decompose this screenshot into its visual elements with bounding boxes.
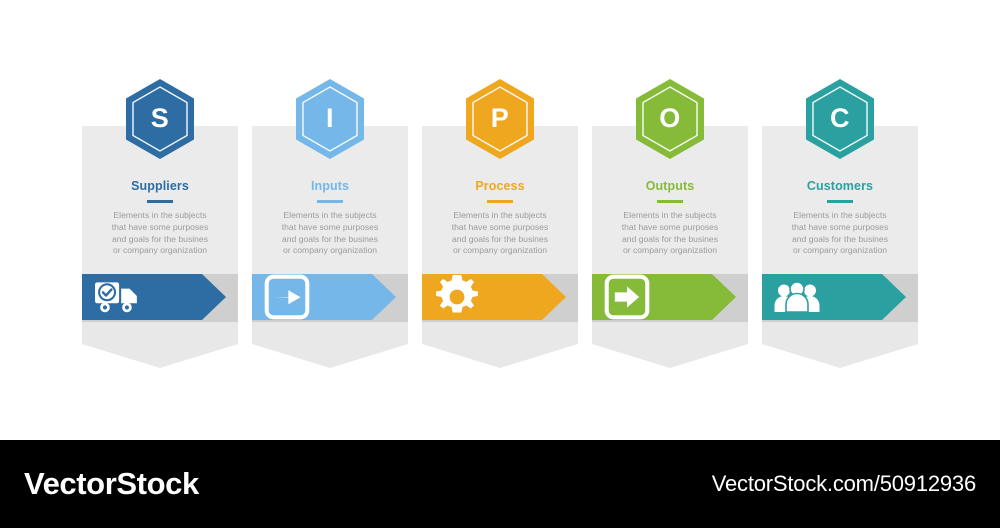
stage-arrow-band	[252, 274, 408, 320]
description-line: Elements in the subjects	[84, 210, 236, 222]
gear-icon	[434, 274, 480, 320]
arrow-out-of-box-icon	[604, 274, 650, 320]
description-line: that have some purposes	[424, 222, 576, 234]
description-line: Elements in the subjects	[764, 210, 916, 222]
description-line: and goals for the busines	[594, 234, 746, 246]
stage-letter: O	[634, 78, 706, 160]
description-line: Elements in the subjects	[254, 210, 406, 222]
stage-description: Elements in the subjectsthat have some p…	[764, 210, 916, 257]
stage-description: Elements in the subjectsthat have some p…	[254, 210, 406, 257]
sipoc-diagram: SSuppliersElements in the subjectsthat h…	[0, 0, 1000, 440]
description-line: or company organization	[764, 245, 916, 257]
stage-arrow-band	[592, 274, 748, 320]
stage-arrow-band	[82, 274, 238, 320]
stage-title: Inputs	[252, 179, 408, 193]
stage-title: Customers	[762, 179, 918, 193]
stage-hexagon-badge: C	[804, 78, 876, 160]
watermark-url: VectorStock.com/50912936	[712, 471, 976, 497]
watermark-footer: VectorStock VectorStock.com/50912936	[0, 440, 1000, 528]
stage-hexagon-badge: O	[634, 78, 706, 160]
description-line: that have some purposes	[594, 222, 746, 234]
sipoc-column: IInputsElements in the subjectsthat have…	[252, 78, 408, 368]
vectorstock-logo: VectorStock	[24, 466, 199, 502]
description-line: or company organization	[594, 245, 746, 257]
users-group-icon	[774, 274, 820, 320]
stage-title: Outputs	[592, 179, 748, 193]
stage-description: Elements in the subjectsthat have some p…	[84, 210, 236, 257]
stage-letter: I	[294, 78, 366, 160]
sipoc-columns: SSuppliersElements in the subjectsthat h…	[82, 78, 918, 368]
description-line: and goals for the busines	[424, 234, 576, 246]
sipoc-infographic-page: SSuppliersElements in the subjectsthat h…	[0, 0, 1000, 528]
description-line: that have some purposes	[84, 222, 236, 234]
description-line: or company organization	[84, 245, 236, 257]
stage-description: Elements in the subjectsthat have some p…	[424, 210, 576, 257]
stage-description: Elements in the subjectsthat have some p…	[594, 210, 746, 257]
description-line: or company organization	[424, 245, 576, 257]
description-line: and goals for the busines	[764, 234, 916, 246]
description-line: and goals for the busines	[84, 234, 236, 246]
title-divider	[147, 200, 173, 203]
description-line: Elements in the subjects	[424, 210, 576, 222]
stage-title: Process	[422, 179, 578, 193]
description-line: that have some purposes	[254, 222, 406, 234]
stage-arrow-band	[762, 274, 918, 320]
delivery-truck-check-icon	[94, 274, 140, 320]
title-divider	[487, 200, 513, 203]
stage-title: Suppliers	[82, 179, 238, 193]
description-line: or company organization	[254, 245, 406, 257]
stage-hexagon-badge: I	[294, 78, 366, 160]
title-divider	[827, 200, 853, 203]
sipoc-column: CCustomersElements in the subjectsthat h…	[762, 78, 918, 368]
arrow-into-box-icon	[264, 274, 310, 320]
description-line: and goals for the busines	[254, 234, 406, 246]
stage-arrow-band	[422, 274, 578, 320]
stage-letter: C	[804, 78, 876, 160]
stage-hexagon-badge: P	[464, 78, 536, 160]
description-line: Elements in the subjects	[594, 210, 746, 222]
sipoc-column: OOutputsElements in the subjectsthat hav…	[592, 78, 748, 368]
description-line: that have some purposes	[764, 222, 916, 234]
sipoc-column: SSuppliersElements in the subjectsthat h…	[82, 78, 238, 368]
sipoc-column: PProcessElements in the subjectsthat hav…	[422, 78, 578, 368]
stage-letter: P	[464, 78, 536, 160]
title-divider	[657, 200, 683, 203]
stage-letter: S	[124, 78, 196, 160]
title-divider	[317, 200, 343, 203]
stage-hexagon-badge: S	[124, 78, 196, 160]
